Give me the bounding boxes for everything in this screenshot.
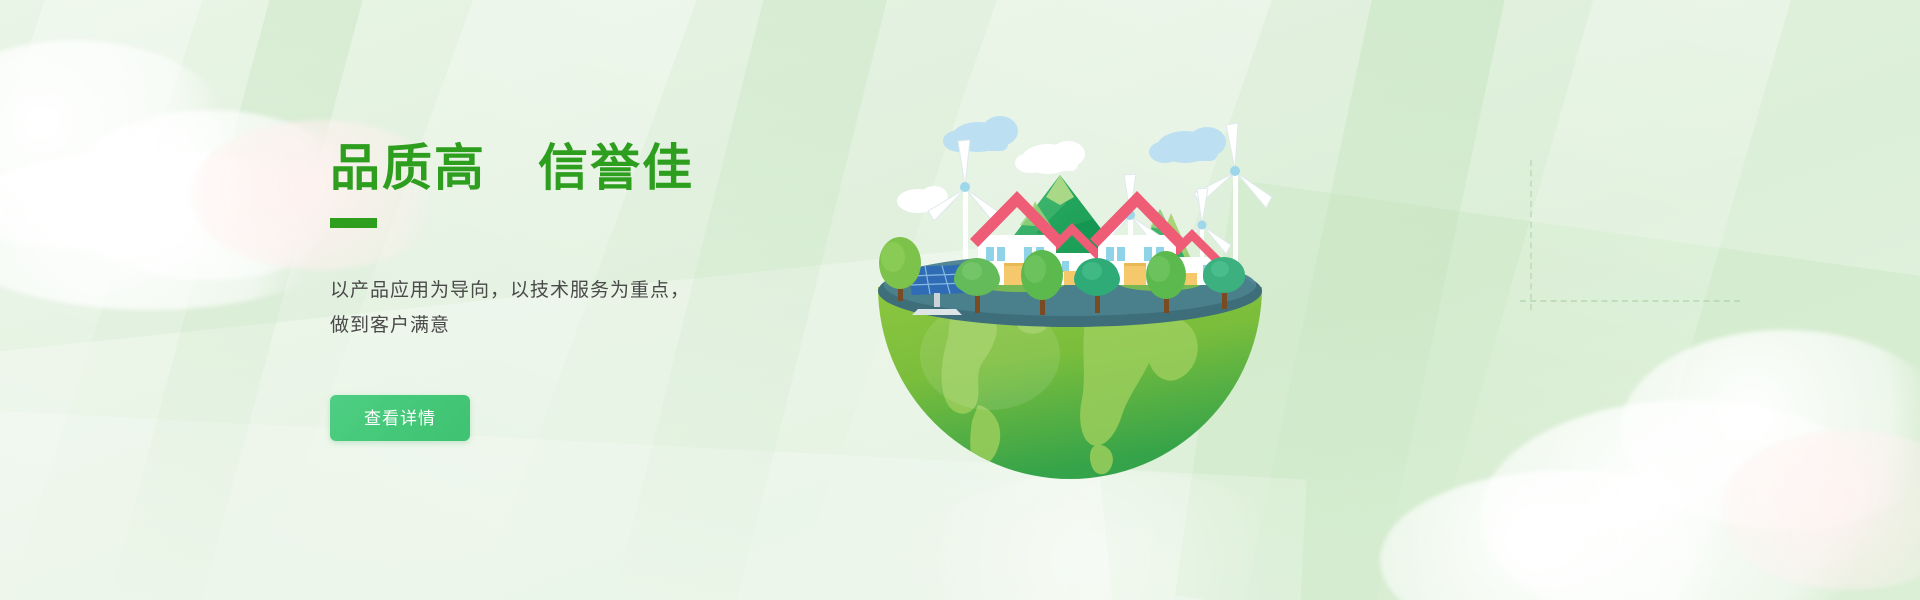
background-wedge [1175,179,1920,600]
cloud-3 [1015,141,1085,174]
subtitle-line-1: 以产品应用为导向，以技术服务为重点， [330,273,850,308]
background-cloud [0,40,240,250]
hero-banner: 品质高 信誉佳 以产品应用为导向，以技术服务为重点， 做到客户满意 查看详情 [0,0,1920,600]
dashed-line-decoration [1530,160,1534,310]
title-divider [330,218,377,228]
background-cloud [60,110,360,280]
subtitle-line-2: 做到客户满意 [330,308,850,343]
background-cloud [1380,470,1760,600]
background-cloud [1720,430,1920,590]
cloud-2 [1149,127,1226,163]
background-cloud [1620,330,1920,530]
banner-subtitle: 以产品应用为导向，以技术服务为重点， 做到客户满意 [330,273,850,343]
light-ray [0,0,266,600]
view-details-button[interactable]: 查看详情 [330,395,470,441]
background-cloud [1480,400,1900,600]
banner-copy-block: 品质高 信誉佳 以产品应用为导向，以技术服务为重点， 做到客户满意 查看详情 [330,140,850,441]
dashed-line-decoration [1520,300,1740,302]
background-cloud [0,150,360,310]
cloud-1 [943,116,1018,152]
green-eco-globe-illustration [860,105,1280,495]
light-ray [1416,0,1847,600]
page-title: 品质高 信誉佳 [330,140,850,198]
light-ray [1234,0,1548,600]
